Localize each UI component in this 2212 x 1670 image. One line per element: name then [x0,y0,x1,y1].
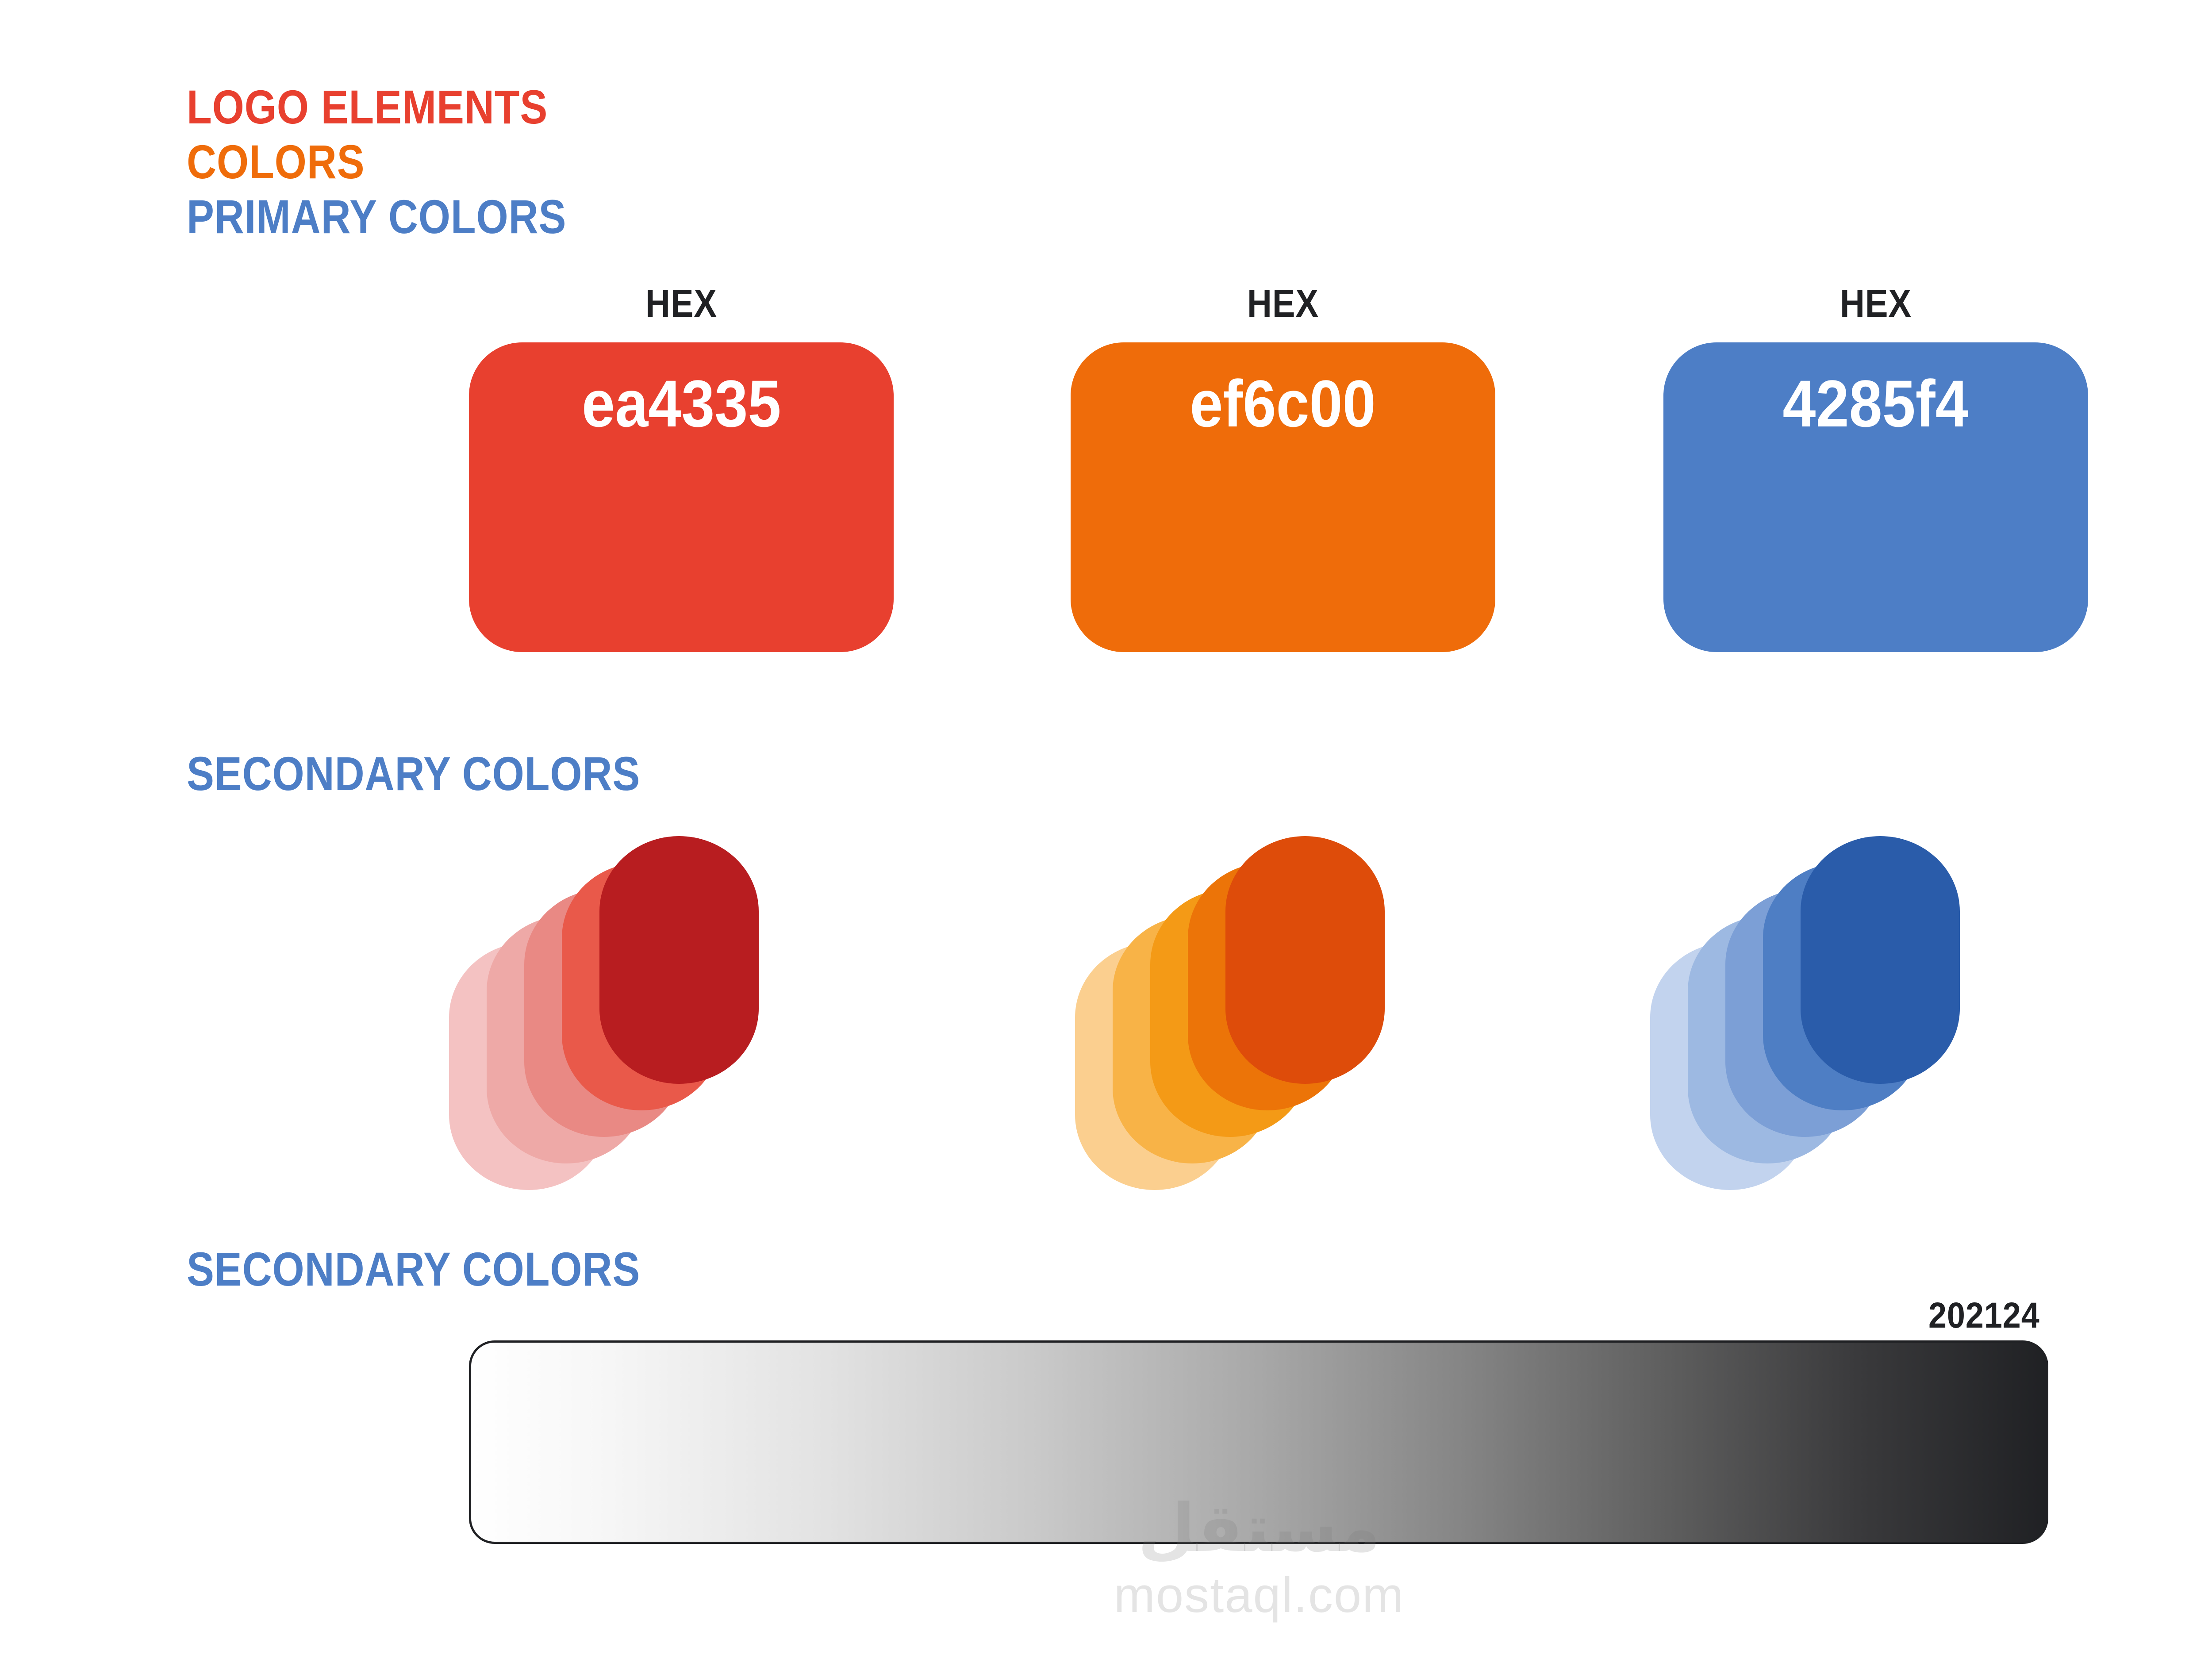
hex-label-3: HEX [1689,283,2063,324]
color-swatch-ef6c00[interactable]: ef6c00 [1071,342,1495,652]
color-swatch-4285f4[interactable]: 4285f4 [1663,342,2088,652]
header-subtitle-colors: COLORS [187,134,566,189]
section-title-secondary-colors-gradient: SECONDARY COLORS [187,1243,640,1295]
swatch-hex-value-3: 4285f4 [1783,369,1969,438]
secondary-ramp-blue [1650,836,2137,1190]
swatch-hex-value-1: ea4335 [582,369,781,438]
primary-swatch-card-1: HEX ea4335 [469,283,894,690]
secondary-ramp-red [449,836,936,1190]
hex-label-2: HEX [1096,283,1470,324]
swatch-hex-value-2: ef6c00 [1190,369,1376,438]
secondary-shade-red-5[interactable] [599,836,759,1084]
header-section-primary-colors: PRIMARY COLORS [187,189,566,244]
secondary-shade-blue-5[interactable] [1801,836,1960,1084]
primary-swatch-card-2: HEX ef6c00 [1071,283,1495,690]
section-title-secondary-colors-shapes: SECONDARY COLORS [187,748,640,800]
watermark-domain-text: mostaql.com [0,1569,2212,1622]
primary-colors-row: HEX ea4335 HEX ef6c00 HEX 4285f4 [0,283,2212,690]
secondary-ramp-orange [1075,836,1562,1190]
color-swatch-ea4335[interactable]: ea4335 [469,342,894,652]
secondary-colors-row [0,836,2212,1190]
page-header: LOGO ELEMENTS COLORS PRIMARY COLORS [187,80,628,244]
primary-swatch-card-3: HEX 4285f4 [1663,283,2088,690]
gradient-end-hex-label: 202124 [1928,1296,2040,1335]
hex-label-1: HEX [495,283,868,324]
header-title-logo-elements: LOGO ELEMENTS [187,80,566,134]
grayscale-gradient-bar[interactable] [469,1340,2048,1544]
secondary-shade-orange-5[interactable] [1225,836,1385,1084]
